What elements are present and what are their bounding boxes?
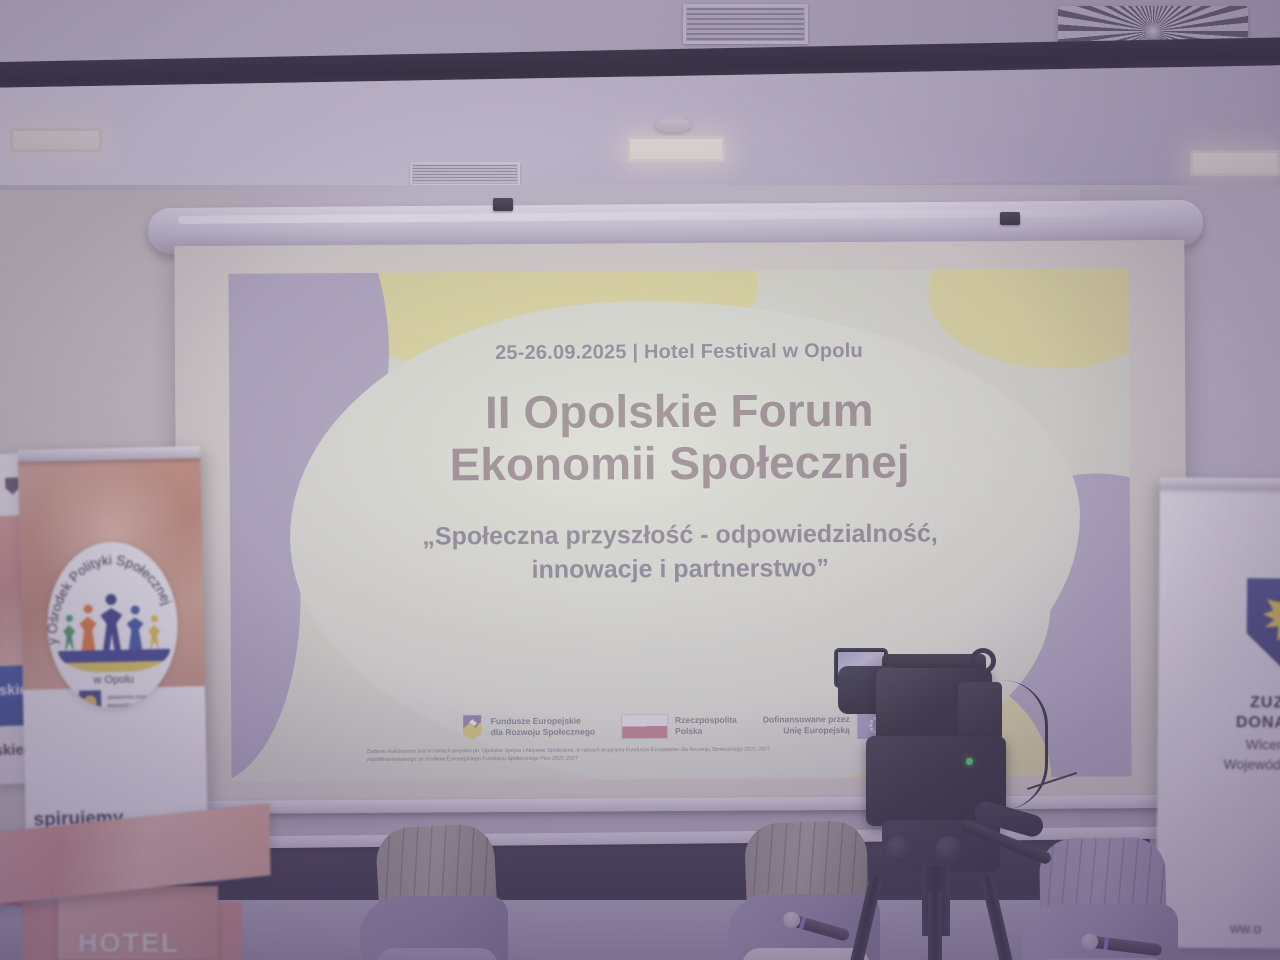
rops-crest-caption: JEDNOSTKA SAMORZĄDU Województwa Opolskie…: [107, 693, 165, 709]
right-banner-url: ww.o: [1230, 920, 1261, 936]
screen-mount-bracket-left: [493, 198, 513, 211]
ceiling-air-vent-small: [410, 162, 520, 186]
person-green: [61, 615, 77, 653]
fundusze-europejskie-label: Fundusze Europejskie dla Rozwoju Społecz…: [491, 715, 596, 739]
slide-title: II Opolskie Forum Ekonomii Społecznej: [449, 385, 910, 491]
slide-title-line-1: II Opolskie Forum: [449, 385, 909, 439]
fundusze-europejskie-logo: Fundusze Europejskie dla Rozwoju Społecz…: [462, 714, 596, 741]
recessed-light-panel-left: [10, 128, 102, 152]
microphone-band: [1103, 937, 1108, 949]
person-navy: [99, 594, 124, 652]
polish-flag-icon: [621, 714, 668, 739]
ceiling-front-plane: [0, 65, 1280, 200]
right-banner-role-line-2: Województ: [1223, 756, 1280, 773]
right-banner-firstname: ZUZ: [1250, 694, 1280, 712]
rops-opole-rollup-banner: y Ośrodek Polityki Społecznej: [18, 446, 208, 850]
slide-title-line-2: Ekonomii Społecznej: [449, 436, 909, 490]
right-banner-role-line-1: Wicem: [1246, 736, 1280, 752]
slide-date-venue-line: 25-26.09.2025 | Hotel Festival w Opolu: [495, 340, 863, 365]
conference-room-scene: 25-26.09.2025 | Hotel Festival w Opolu I…: [0, 0, 1280, 960]
tripod-leg-center: [928, 890, 942, 960]
linear-air-vent: [683, 4, 808, 44]
rp-line-1: Rzeczpospolita: [675, 714, 737, 726]
tripod-lock-knob-right: [936, 836, 962, 862]
camera-battery-pack: [958, 682, 1002, 740]
rzeczpospolita-polska-logo: Rzeczpospolita Polska: [621, 713, 737, 739]
lectern-hotel-label: HOTEL: [78, 928, 180, 959]
armchair-seat: [376, 948, 498, 960]
smoke-detector: [655, 118, 691, 132]
tripod-leg-left: [841, 875, 883, 960]
fe-line-1: Fundusze Europejskie: [491, 715, 595, 727]
person-blue: [125, 605, 145, 651]
person-orange: [78, 604, 98, 652]
camera-cable: [1002, 680, 1048, 810]
recessed-light-panel-center: [627, 136, 725, 162]
rzeczpospolita-polska-label: Rzeczpospolita Polska: [675, 714, 737, 737]
person-yellow: [146, 615, 162, 651]
right-banner-top-rail: [1156, 477, 1280, 489]
recessed-light-panel-right: [1190, 150, 1280, 176]
fundusze-europejskie-icon: [462, 714, 484, 740]
screen-mount-bracket-right: [1000, 212, 1020, 225]
right-banner-surname: DONATH: [1236, 714, 1280, 733]
video-camera-on-tripod: [830, 640, 1060, 960]
camera-record-led: [966, 758, 973, 765]
rp-line-2: Polska: [675, 726, 737, 738]
slide-subtitle-line-1: „Społeczna przyszłość - odpowiedzialność…: [422, 517, 938, 554]
rops-circular-logo: y Ośrodek Polityki Społecznej: [46, 541, 179, 710]
vice-marshal-rollup-banner: ZUZ DONATH Wicem Województ ww.o: [1156, 477, 1280, 948]
slide-subtitle-line-2: innowacje i partnerstwo”: [422, 551, 938, 588]
slide-subtitle: „Społeczna przyszłość - odpowiedzialność…: [422, 517, 938, 588]
tripod-leg-right: [980, 875, 1022, 960]
tripod-lock-knob-left: [886, 836, 912, 862]
fe-line-2: dla Rozwoju Społecznego: [491, 727, 595, 739]
opolskie-crest-icon: [79, 690, 102, 709]
rops-people-pictogram: [61, 593, 164, 653]
